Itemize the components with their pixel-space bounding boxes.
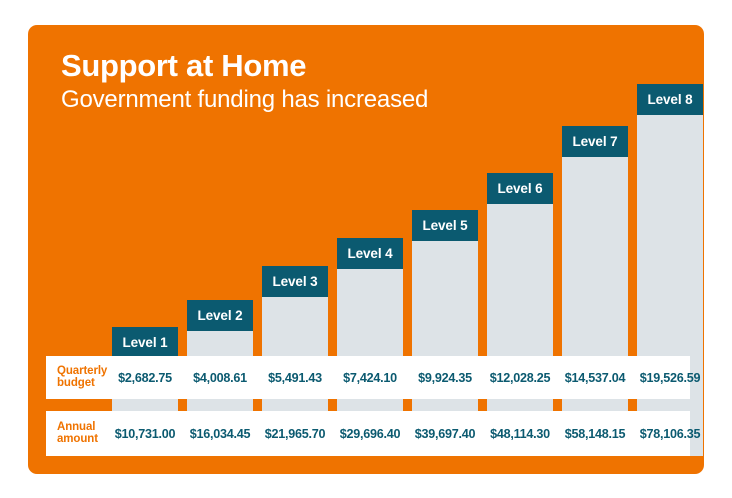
table-cell: $14,537.04	[562, 356, 628, 399]
table-cell: $5,491.43	[262, 356, 328, 399]
screenshot-root: Level 1Level 2Level 3Level 4Level 5Level…	[0, 0, 732, 498]
table-row: Quarterly budget $2,682.75$4,008.61$5,49…	[46, 356, 690, 399]
level-badge-1: Level 1	[112, 327, 178, 358]
table-cell: $16,034.45	[187, 411, 253, 456]
level-badge-5: Level 5	[412, 210, 478, 241]
table-cell: $58,148.15	[562, 411, 628, 456]
table-cell: $2,682.75	[112, 356, 178, 399]
table-cell: $4,008.61	[187, 356, 253, 399]
table-cell: $21,965.70	[262, 411, 328, 456]
level-badge-2: Level 2	[187, 300, 253, 331]
level-badge-8: Level 8	[637, 84, 703, 115]
table-cell: $48,114.30	[487, 411, 553, 456]
level-badge-4: Level 4	[337, 238, 403, 269]
row-label-quarterly: Quarterly budget	[57, 365, 107, 391]
annual-cells: $10,731.00$16,034.45$21,965.70$29,696.40…	[112, 411, 690, 456]
bar-fill	[637, 84, 703, 456]
table-cell: $78,106.35	[637, 411, 703, 456]
level-badge-7: Level 7	[562, 126, 628, 157]
heading-block: Support at Home Government funding has i…	[61, 50, 581, 113]
level-badge-3: Level 3	[262, 266, 328, 297]
table-cell: $29,696.40	[337, 411, 403, 456]
table-cell: $39,697.40	[412, 411, 478, 456]
table-cell: $9,924.35	[412, 356, 478, 399]
quarterly-cells: $2,682.75$4,008.61$5,491.43$7,424.10$9,9…	[112, 356, 690, 399]
row-label-annual: Annual amount	[57, 421, 98, 447]
table-row: Annual amount $10,731.00$16,034.45$21,96…	[46, 411, 690, 456]
table-cell: $10,731.00	[112, 411, 178, 456]
table-cell: $7,424.10	[337, 356, 403, 399]
page-title: Support at Home	[61, 50, 581, 83]
table-cell: $12,028.25	[487, 356, 553, 399]
infographic-card: Level 1Level 2Level 3Level 4Level 5Level…	[28, 25, 704, 474]
table-cell: $19,526.59	[637, 356, 703, 399]
page-subtitle: Government funding has increased	[61, 86, 581, 114]
bar-fill	[562, 126, 628, 456]
level-badge-6: Level 6	[487, 173, 553, 204]
